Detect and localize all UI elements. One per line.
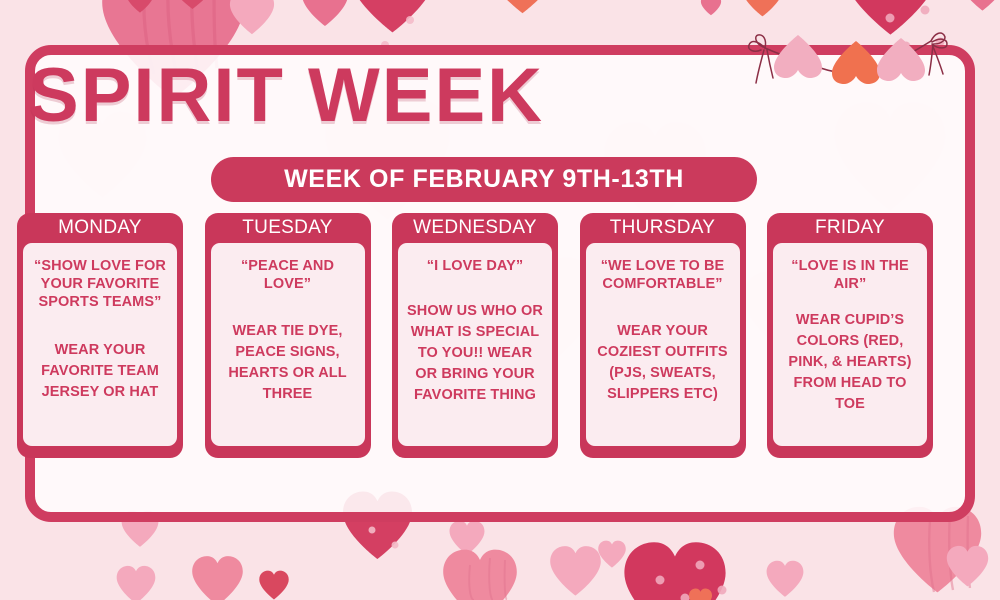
day-theme: “I LOVE DAY” [427, 257, 524, 275]
day-card-header: TUESDAY [205, 213, 371, 243]
heart-garland-icon [743, 30, 958, 100]
day-card-body: “PEACE AND LOVE” WEAR TIE DYE, PEACE SIG… [211, 243, 365, 446]
day-card-friday: FRIDAY “LOVE IS IN THE AIR” WEAR CUPID’S… [767, 213, 933, 458]
garland-heart-right [877, 38, 925, 81]
day-card-header: WEDNESDAY [392, 213, 558, 243]
day-card-tuesday: TUESDAY “PEACE AND LOVE” WEAR TIE DYE, P… [205, 213, 371, 458]
day-detail: SHOW US WHO OR WHAT IS SPECIAL TO YOU!! … [406, 301, 544, 410]
day-detail: WEAR TIE DYE, PEACE SIGNS, HEARTS OR ALL… [219, 321, 357, 409]
day-detail: WEAR YOUR COZIEST OUTFITS (PJS, SWEATS, … [594, 321, 732, 409]
page-title: SPIRIT WEEK [28, 58, 544, 134]
day-cards-row: MONDAY “SHOW LOVE FOR YOUR FAVORITE SPOR… [17, 213, 933, 458]
day-card-body: “I LOVE DAY” SHOW US WHO OR WHAT IS SPEC… [398, 243, 552, 446]
day-card-wednesday: WEDNESDAY “I LOVE DAY” SHOW US WHO OR WH… [392, 213, 558, 458]
garland-bow-right [929, 33, 947, 75]
day-card-thursday: THURSDAY “WE LOVE TO BE COMFORTABLE” WEA… [580, 213, 746, 458]
day-theme: “SHOW LOVE FOR YOUR FAVORITE SPORTS TEAM… [31, 257, 169, 311]
spirit-week-poster: SPIRIT WEEK WEEK OF FEBRUARY 9TH-13TH [0, 0, 1000, 600]
day-detail: WEAR CUPID’S COLORS (RED, PINK, & HEARTS… [781, 310, 919, 419]
day-detail: WEAR YOUR FAVORITE TEAM JERSEY OR HAT [31, 340, 169, 407]
day-card-body: “LOVE IS IN THE AIR” WEAR CUPID’S COLORS… [773, 243, 927, 446]
garland-heart-center [832, 41, 880, 84]
day-card-body: “SHOW LOVE FOR YOUR FAVORITE SPORTS TEAM… [23, 243, 177, 446]
day-theme: “LOVE IS IN THE AIR” [781, 257, 919, 293]
subtitle-text: WEEK OF FEBRUARY 9TH-13TH [284, 165, 684, 194]
day-theme: “PEACE AND LOVE” [219, 257, 357, 293]
day-theme: “WE LOVE TO BE COMFORTABLE” [594, 257, 732, 293]
day-card-header: THURSDAY [580, 213, 746, 243]
day-card-body: “WE LOVE TO BE COMFORTABLE” WEAR YOUR CO… [586, 243, 740, 446]
day-card-monday: MONDAY “SHOW LOVE FOR YOUR FAVORITE SPOR… [17, 213, 183, 458]
subtitle-banner: WEEK OF FEBRUARY 9TH-13TH [211, 157, 757, 202]
day-card-header: MONDAY [17, 213, 183, 243]
day-card-header: FRIDAY [767, 213, 933, 243]
garland-bow-left [749, 35, 773, 83]
garland-heart-left [774, 35, 822, 78]
